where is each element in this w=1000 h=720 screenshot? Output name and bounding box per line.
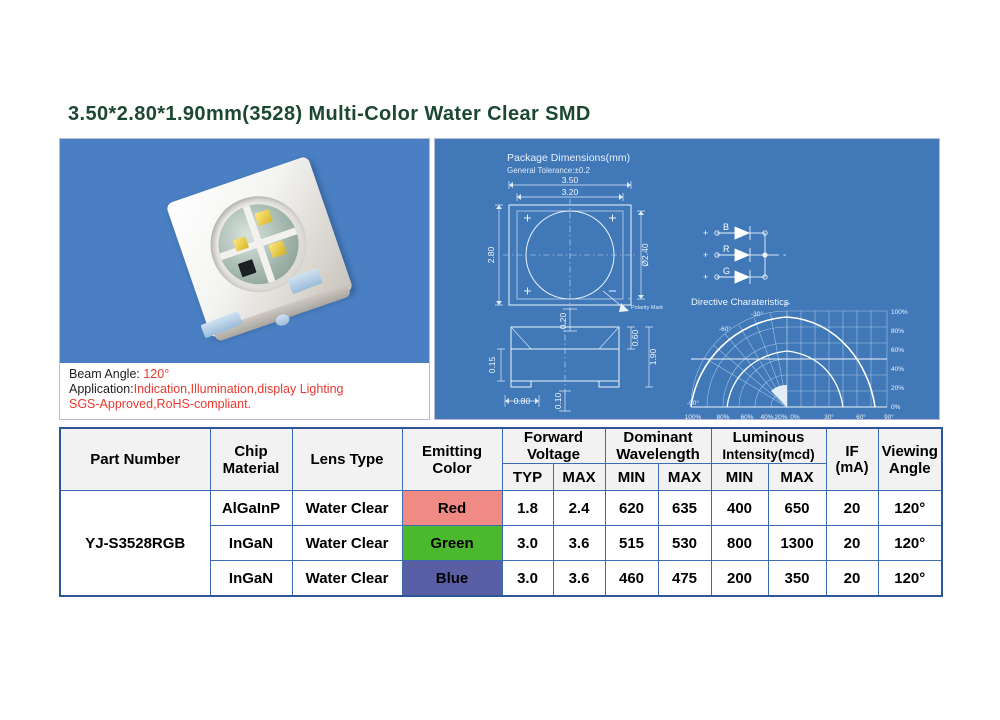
product-photo-panel: Beam Angle: 120° Application:Indication,… — [59, 138, 430, 420]
technical-drawing-panel: Package Dimensions(mm) General Tolerance… — [434, 138, 940, 420]
cell-emitting-color: Blue — [402, 561, 502, 597]
cell-if-typ: 20 — [826, 561, 878, 597]
cell-vf-max: 3.6 — [553, 526, 605, 561]
cell-wavelength-max: 635 — [658, 491, 711, 526]
dim-1-90: 1.90 — [648, 348, 658, 365]
circuit-minus-common: - — [783, 250, 786, 261]
th-emitting-l1: Emitting — [403, 443, 502, 460]
circuit-pin-g-label: G — [723, 266, 730, 276]
cell-vf-max: 3.6 — [553, 561, 605, 597]
th-viewing-angle: Viewing Angle — [878, 428, 942, 491]
cell-intensity-max: 350 — [768, 561, 826, 597]
dim-diameter-2-40: Ø2.40 — [640, 243, 650, 266]
th-luminous-intensity: Luminous Intensity(mcd) — [711, 428, 826, 464]
th-chip-material-l1: Chip — [211, 443, 292, 460]
product-description: Beam Angle: 120° Application:Indication,… — [60, 363, 429, 419]
cell-intensity-max: 1300 — [768, 526, 826, 561]
cell-lens-type: Water Clear — [292, 491, 402, 526]
th-part-number: Part Number — [60, 428, 210, 491]
cell-vf-typ: 3.0 — [502, 561, 553, 597]
application-label: Application: — [69, 382, 134, 396]
tolerance-note: General Tolerance:±0.2 — [507, 166, 591, 175]
cell-chip-material: InGaN — [210, 561, 292, 597]
th-vf-typ: TYP — [502, 464, 553, 491]
application-value: Indication,Illumination,display Lighting — [134, 382, 344, 396]
th-dominant-wavelength: Dominant Wavelength — [605, 428, 711, 464]
th-emitting-color: Emitting Color — [402, 428, 502, 491]
cell-if-typ: 20 — [826, 526, 878, 561]
cell-if-typ: 20 — [826, 491, 878, 526]
th-luminous-l2: Intensity(mcd) — [712, 446, 826, 463]
polar-left-tick-100: 100% — [685, 414, 702, 419]
polar-angle-tick-0: 0° — [784, 301, 791, 309]
led-die-chip — [268, 240, 287, 258]
cell-viewing-angle: 120° — [878, 491, 942, 526]
minus-sign-top-view: - — [628, 294, 631, 303]
cell-wavelength-max: 475 — [658, 561, 711, 597]
th-wl-max: MAX — [658, 464, 711, 491]
beam-angle-line: Beam Angle: 120° — [69, 367, 429, 382]
th-if: IF (mA) — [826, 428, 878, 491]
circuit-pin-r-label: R — [723, 244, 730, 254]
cell-intensity-min: 200 — [711, 561, 768, 597]
drawing-svg: Package Dimensions(mm) General Tolerance… — [435, 139, 939, 419]
cell-emitting-color: Green — [402, 526, 502, 561]
page-title: 3.50*2.80*1.90mm(3528) Multi-Color Water… — [68, 103, 591, 126]
th-if-l2: (mA) — [827, 460, 878, 477]
dim-3-50: 3.50 — [562, 175, 579, 185]
th-chip-material: Chip Material — [210, 428, 292, 491]
polar-right-tick-20: 20% — [891, 385, 904, 392]
polar-angle-tick--60: -60° — [719, 325, 731, 333]
th-iv-min: MIN — [711, 464, 768, 491]
th-wl-min: MIN — [605, 464, 658, 491]
polar-angle-tick-90: 90° — [884, 413, 894, 419]
polar-left-tick-20: 20% — [774, 414, 787, 419]
led-die-chip — [254, 209, 272, 226]
polar-left-tick-80: 80% — [716, 414, 729, 419]
cell-wavelength-min: 460 — [605, 561, 658, 597]
th-forward-l2: Voltage — [503, 446, 605, 463]
polar-chart-title: Directive Charateristics — [691, 297, 789, 308]
cell-vf-max: 2.4 — [553, 491, 605, 526]
dim-0-10: 0.10 — [553, 392, 563, 409]
cell-wavelength-min: 620 — [605, 491, 658, 526]
th-forward-voltage: Forward Voltage — [502, 428, 605, 464]
cell-vf-typ: 1.8 — [502, 491, 553, 526]
polar-left-tick-60: 60% — [740, 414, 753, 419]
dim-0-80: 0.80 — [514, 396, 531, 406]
circuit-pin-b-label: B — [723, 222, 729, 232]
dim-3-20: 3.20 — [562, 187, 579, 197]
compliance-line: SGS-Approved,RoHS-compliant. — [69, 397, 429, 412]
polarity-mark-note: Polarity Mark — [631, 305, 663, 311]
cell-part-number: YJ-S3528RGB — [60, 491, 210, 597]
cell-wavelength-max: 530 — [658, 526, 711, 561]
led-polarity-mark — [238, 259, 257, 277]
polar-left-tick-0: 0% — [790, 414, 800, 419]
th-chip-material-l2: Material — [211, 460, 292, 477]
polar-left-tick-40: 40% — [760, 414, 773, 419]
cell-intensity-max: 650 — [768, 491, 826, 526]
beam-angle-label: Beam Angle: — [69, 367, 143, 381]
dim-0-15: 0.15 — [487, 356, 497, 373]
th-iv-max: MAX — [768, 464, 826, 491]
th-lens-type: Lens Type — [292, 428, 402, 491]
th-dominant-l2: Wavelength — [606, 446, 711, 463]
dim-2-80: 2.80 — [486, 246, 496, 263]
cell-chip-material: AlGaInP — [210, 491, 292, 526]
package-dimensions-title: Package Dimensions(mm) — [507, 152, 630, 164]
cell-chip-material: InGaN — [210, 526, 292, 561]
polar-angle-tick-30: 30° — [824, 413, 834, 419]
polar-right-tick-100: 100% — [891, 309, 908, 316]
cell-viewing-angle: 120° — [878, 561, 942, 597]
polar-center-wedge — [771, 385, 787, 407]
polar-right-tick-40: 40% — [891, 366, 904, 373]
product-photo — [60, 139, 429, 365]
smd-led-illustration — [153, 143, 373, 359]
application-line: Application:Indication,Illumination,disp… — [69, 382, 429, 397]
cell-lens-type: Water Clear — [292, 561, 402, 597]
th-if-l1: IF — [827, 443, 878, 460]
polar-angle-tick--90: -90° — [687, 399, 699, 407]
dim-0-60: 0.60 — [630, 329, 640, 346]
polar-right-tick-60: 60% — [891, 347, 904, 354]
cell-wavelength-min: 515 — [605, 526, 658, 561]
cell-vf-typ: 3.0 — [502, 526, 553, 561]
specification-table-body: YJ-S3528RGBAlGaInPWater ClearRed1.82.462… — [60, 491, 942, 597]
cell-emitting-color: Red — [402, 491, 502, 526]
circuit-plus-g: + — [703, 272, 708, 282]
cell-intensity-min: 800 — [711, 526, 768, 561]
cell-intensity-min: 400 — [711, 491, 768, 526]
circuit-plus-b: + — [703, 228, 708, 238]
th-viewing-l1: Viewing — [879, 443, 942, 460]
circuit-plus-r: + — [703, 250, 708, 260]
th-emitting-l2: Color — [403, 460, 502, 477]
th-viewing-l2: Angle — [879, 460, 942, 477]
th-forward-l1: Forward — [503, 429, 605, 446]
table-row: YJ-S3528RGBAlGaInPWater ClearRed1.82.462… — [60, 491, 942, 526]
th-dominant-l1: Dominant — [606, 429, 711, 446]
th-vf-max: MAX — [553, 464, 605, 491]
cell-lens-type: Water Clear — [292, 526, 402, 561]
th-luminous-l1: Luminous — [712, 429, 826, 446]
polar-angle-tick--30: -30° — [751, 310, 763, 318]
datasheet-page: 3.50*2.80*1.90mm(3528) Multi-Color Water… — [0, 0, 1000, 720]
polar-angle-tick-60: 60° — [856, 413, 866, 419]
cell-viewing-angle: 120° — [878, 526, 942, 561]
polar-right-tick-0: 0% — [891, 404, 901, 411]
specification-table: Part Number Chip Material Lens Type Emit… — [59, 427, 943, 597]
beam-angle-value: 120° — [143, 367, 169, 381]
polar-right-tick-80: 80% — [891, 328, 904, 335]
